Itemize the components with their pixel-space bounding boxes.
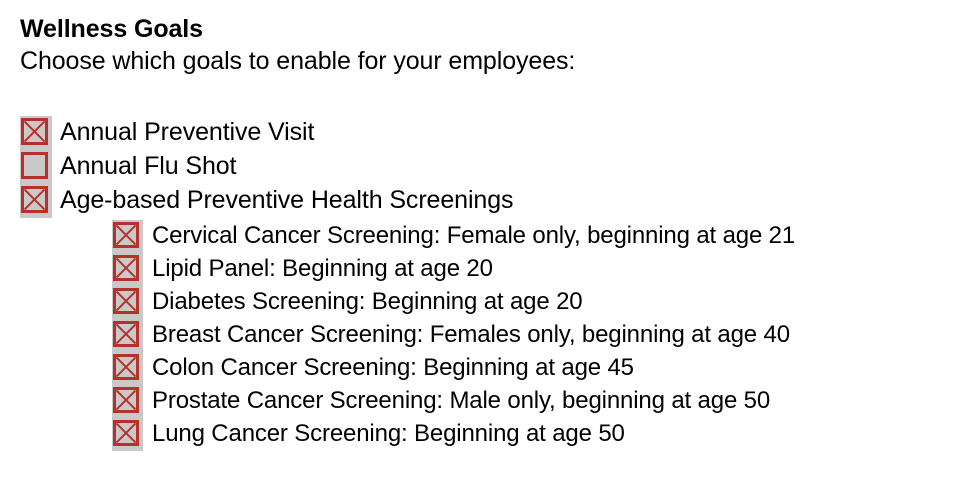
- screening-label: Lung Cancer Screening: Beginning at age …: [143, 418, 625, 450]
- checkbox-empty-icon[interactable]: [21, 152, 48, 179]
- list-item[interactable]: Annual Preventive Visit: [20, 116, 513, 150]
- screening-label: Prostate Cancer Screening: Male only, be…: [143, 385, 770, 417]
- screening-label: Diabetes Screening: Beginning at age 20: [143, 286, 582, 318]
- checkbox-column: [112, 418, 143, 451]
- checkbox-column: [20, 150, 52, 184]
- checkbox-column: [112, 286, 143, 319]
- screening-label: Lipid Panel: Beginning at age 20: [143, 253, 493, 285]
- checkbox-x-icon[interactable]: [113, 354, 139, 380]
- checkbox-x-icon[interactable]: [21, 186, 48, 213]
- page-subtitle: Choose which goals to enable for your em…: [20, 45, 575, 78]
- screening-label: Cervical Cancer Screening: Female only, …: [143, 220, 795, 252]
- list-item[interactable]: Diabetes Screening: Beginning at age 20: [112, 286, 795, 319]
- checkbox-x-icon[interactable]: [113, 288, 139, 314]
- goal-label: Age-based Preventive Health Screenings: [52, 184, 513, 217]
- wellness-goals-panel: Wellness Goals Choose which goals to ena…: [0, 0, 974, 486]
- screening-label: Breast Cancer Screening: Females only, b…: [143, 319, 790, 351]
- screening-label: Colon Cancer Screening: Beginning at age…: [143, 352, 634, 384]
- list-item[interactable]: Colon Cancer Screening: Beginning at age…: [112, 352, 795, 385]
- checkbox-x-icon[interactable]: [113, 255, 139, 281]
- heading-block: Wellness Goals Choose which goals to ena…: [20, 14, 575, 78]
- list-item[interactable]: Age-based Preventive Health Screenings: [20, 184, 513, 218]
- checkbox-column: [20, 116, 52, 150]
- checkbox-column: [112, 253, 143, 286]
- list-item[interactable]: Annual Flu Shot: [20, 150, 513, 184]
- list-item[interactable]: Lung Cancer Screening: Beginning at age …: [112, 418, 795, 451]
- checkbox-column: [112, 220, 143, 253]
- checkbox-column: [112, 352, 143, 385]
- checkbox-column: [20, 184, 52, 218]
- goal-label: Annual Preventive Visit: [52, 116, 314, 149]
- list-item[interactable]: Cervical Cancer Screening: Female only, …: [112, 220, 795, 253]
- age-based-screenings-list: Cervical Cancer Screening: Female only, …: [112, 220, 795, 451]
- checkbox-column: [112, 319, 143, 352]
- checkbox-x-icon[interactable]: [113, 387, 139, 413]
- page-title: Wellness Goals: [20, 14, 575, 45]
- top-level-goals-list: Annual Preventive Visit Annual Flu Shot …: [20, 116, 513, 218]
- goal-label: Annual Flu Shot: [52, 150, 236, 183]
- checkbox-x-icon[interactable]: [113, 420, 139, 446]
- list-item[interactable]: Lipid Panel: Beginning at age 20: [112, 253, 795, 286]
- checkbox-x-icon[interactable]: [21, 118, 48, 145]
- checkbox-x-icon[interactable]: [113, 321, 139, 347]
- checkbox-x-icon[interactable]: [113, 222, 139, 248]
- checkbox-column: [112, 385, 143, 418]
- list-item[interactable]: Breast Cancer Screening: Females only, b…: [112, 319, 795, 352]
- list-item[interactable]: Prostate Cancer Screening: Male only, be…: [112, 385, 795, 418]
